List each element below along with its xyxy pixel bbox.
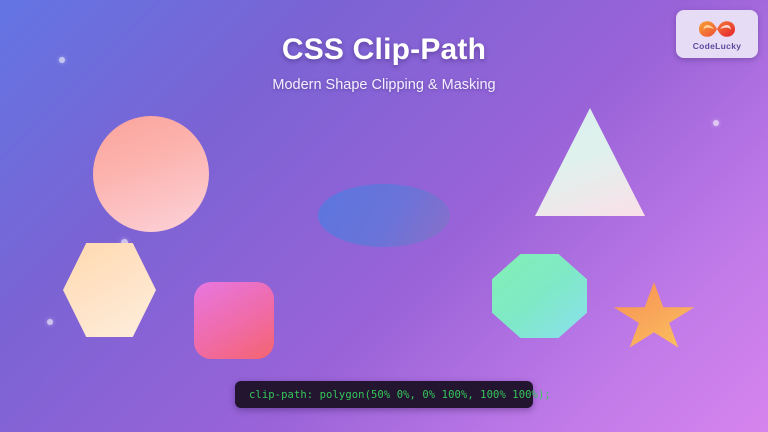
shape-ellipse [318, 184, 450, 247]
codelucky-brand-text: CodeLucky [693, 41, 742, 51]
decorative-dot-lower-left [47, 319, 53, 325]
shape-triangle [535, 108, 645, 216]
shape-circle [93, 116, 209, 232]
shape-octagon [492, 254, 587, 338]
decorative-dot-right [713, 120, 719, 126]
shape-rounded-square [194, 282, 274, 359]
infinity-icon [697, 18, 737, 40]
page-subtitle: Modern Shape Clipping & Masking [0, 77, 768, 93]
slide-canvas: CSS Clip-Path Modern Shape Clipping & Ma… [0, 0, 768, 432]
code-snippet-text: clip-path: polygon(50% 0%, 0% 100%, 100%… [235, 389, 551, 401]
shape-star [612, 282, 696, 354]
codelucky-logo-badge[interactable]: CodeLucky [676, 10, 758, 58]
shape-hexagon [63, 243, 156, 337]
code-snippet-bar: clip-path: polygon(50% 0%, 0% 100%, 100%… [235, 381, 533, 408]
page-title: CSS Clip-Path [0, 33, 768, 67]
